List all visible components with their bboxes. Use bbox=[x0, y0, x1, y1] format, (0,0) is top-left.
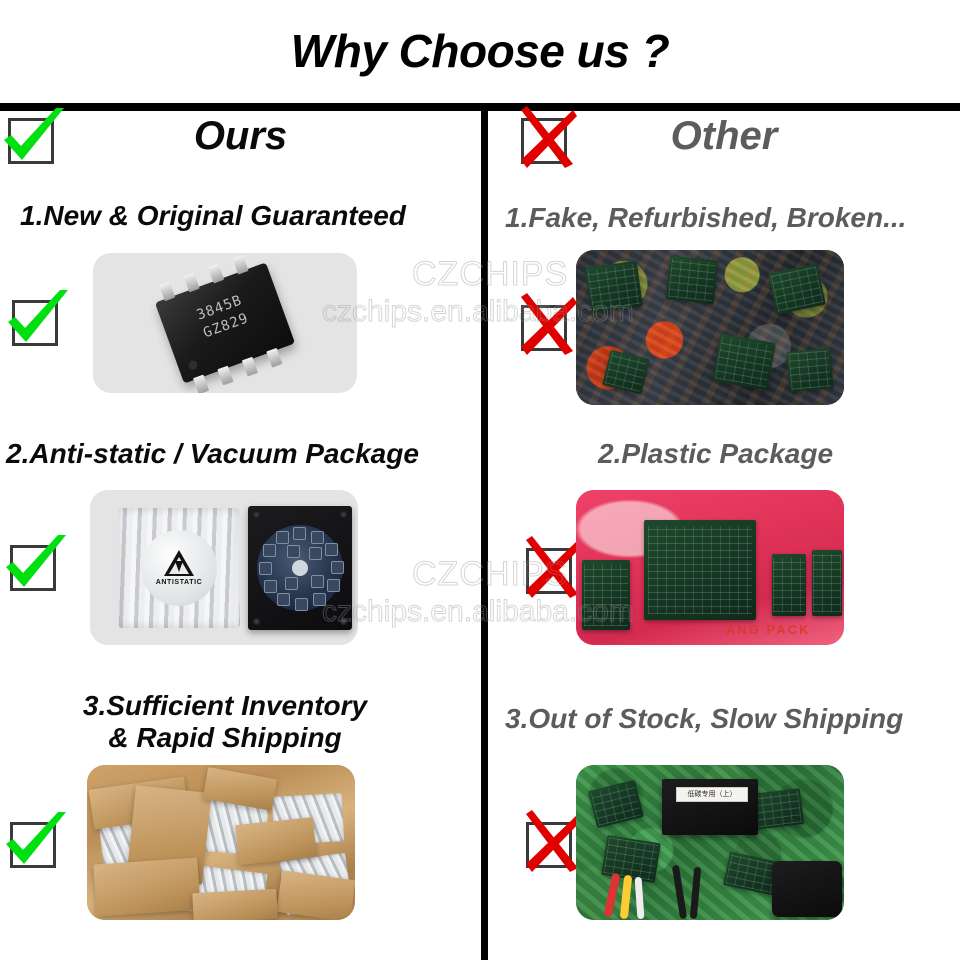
row2-heading-other: 2.Plastic Package bbox=[598, 438, 833, 470]
reel-disc bbox=[257, 525, 343, 611]
cross-icon bbox=[511, 102, 583, 174]
chip-package: 3845B GZ829 bbox=[155, 262, 295, 383]
chip-pin1-dot bbox=[187, 359, 199, 371]
check-mark-row1 bbox=[12, 300, 58, 346]
new-original-chip-photo: 3845B GZ829 bbox=[93, 253, 357, 393]
row2-heading-ours: 2.Anti-static / Vacuum Package bbox=[6, 438, 419, 470]
row3-heading-line1: 3.Sufficient Inventory bbox=[83, 690, 367, 721]
row3-heading-other: 3.Out of Stock, Slow Shipping bbox=[505, 703, 903, 735]
check-mark-row2 bbox=[10, 545, 56, 591]
chip-render: 3845B GZ829 bbox=[93, 253, 357, 393]
out-of-stock-scrap-photo: 低碳专用（上） bbox=[576, 765, 844, 920]
black-module: 低碳专用（上） bbox=[662, 779, 758, 835]
check-mark-row3 bbox=[10, 822, 56, 868]
cross-mark-header-other bbox=[521, 118, 567, 164]
cross-mark-row3 bbox=[526, 822, 572, 868]
row3-heading-ours: 3.Sufficient Inventory & Rapid Shipping bbox=[30, 690, 420, 753]
cross-mark-row2 bbox=[526, 548, 572, 594]
inventory-cartons-photo bbox=[87, 765, 355, 920]
row3-heading-line2: & Rapid Shipping bbox=[108, 722, 341, 753]
black-device bbox=[772, 861, 842, 917]
column-header-ours: Ours bbox=[0, 110, 481, 156]
why-choose-us-infographic: Why Choose us ? Ours Other 1.New & Origi… bbox=[0, 0, 960, 960]
chinese-module-label: 低碳专用（上） bbox=[676, 787, 748, 802]
esd-warning-icon bbox=[164, 550, 194, 576]
check-icon bbox=[0, 806, 72, 878]
chip-marking: 3845B GZ829 bbox=[161, 279, 285, 355]
vacuum-reel-tray bbox=[248, 506, 352, 630]
check-icon bbox=[0, 529, 72, 601]
row1-heading-other: 1.Fake, Refurbished, Broken... bbox=[505, 202, 906, 234]
cross-icon bbox=[511, 289, 583, 361]
check-icon bbox=[0, 102, 70, 174]
fake-broken-chips-photo bbox=[576, 250, 844, 405]
plastic-package-brand-text: ANG PACK bbox=[726, 622, 810, 637]
page-title: Why Choose us ? bbox=[0, 28, 960, 74]
row1-heading-ours: 1.New & Original Guaranteed bbox=[20, 200, 406, 232]
cross-mark-row1 bbox=[521, 305, 567, 351]
antistatic-vacuum-package-photo: ANTISTATIC bbox=[90, 490, 358, 645]
antistatic-label: ANTISTATIC bbox=[156, 579, 203, 586]
check-mark-header-ours bbox=[8, 118, 54, 164]
check-icon bbox=[2, 284, 74, 356]
antistatic-bag: ANTISTATIC bbox=[118, 508, 240, 628]
plastic-package-photo: ANG PACK bbox=[576, 490, 844, 645]
antistatic-logo-disc: ANTISTATIC bbox=[141, 530, 217, 606]
vertical-divider bbox=[481, 108, 488, 960]
